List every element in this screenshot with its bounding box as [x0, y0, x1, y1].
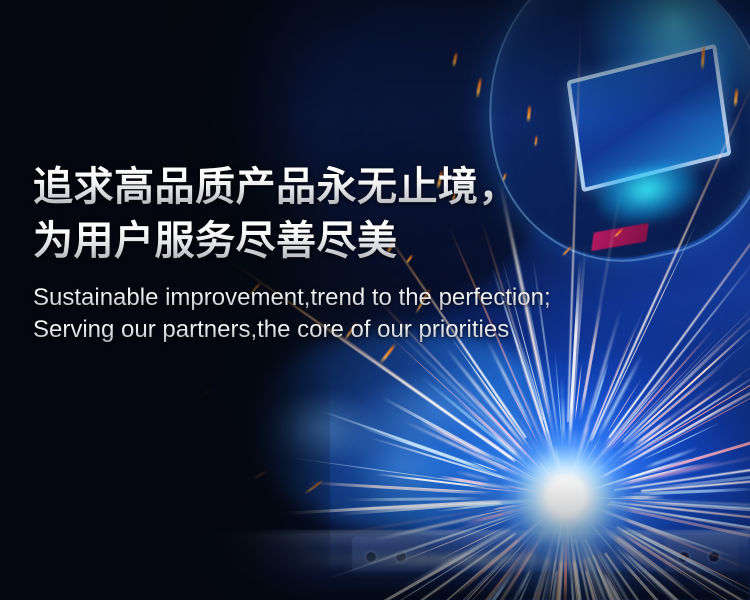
promotional-banner: 追求高品质产品永无止境， 为用户服务尽善尽美 Sustainable impro… [0, 0, 750, 600]
slogan-chinese-line-1: 追求高品质产品永无止境， [33, 160, 723, 214]
spark-streak [348, 497, 481, 501]
slogan-chinese-line-2: 为用户服务尽善尽美 [33, 214, 723, 268]
welding-arc-hotspot [544, 474, 588, 518]
slogan-english-line-2: Serving our partners,the core of our pri… [33, 314, 723, 346]
slogan-english-line-1: Sustainable improvement,trend to the per… [33, 282, 723, 314]
slogan-block: 追求高品质产品永无止境， 为用户服务尽善尽美 Sustainable impro… [33, 160, 723, 346]
